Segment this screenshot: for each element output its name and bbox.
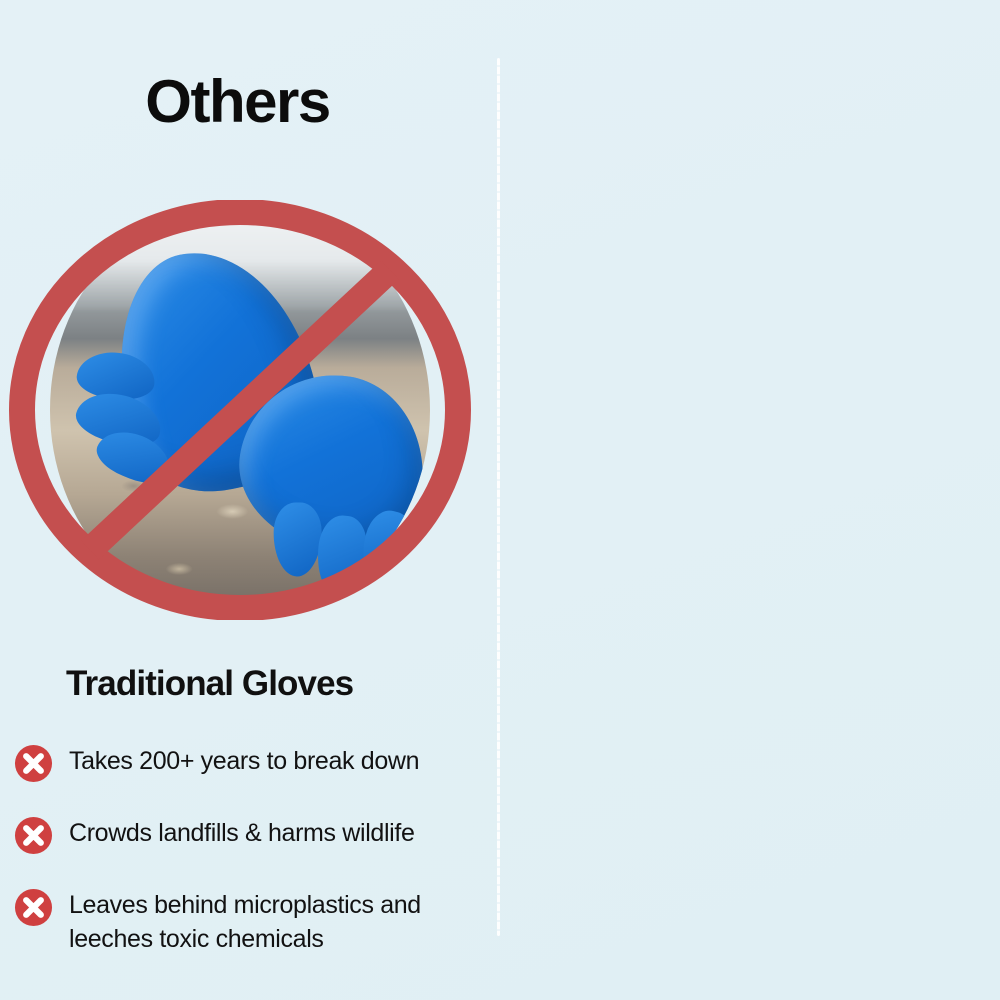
circle-x-icon [14, 744, 53, 783]
landfill-gloves-photo [50, 200, 430, 620]
circle-x-icon [14, 888, 53, 927]
right-column: Eco Gloves ™ [500, 0, 1000, 1000]
others-heading: Others [0, 72, 475, 132]
traditional-gloves-list: Takes 200+ years to break down Crowds la… [14, 742, 484, 957]
circle-x-icon [14, 816, 53, 855]
glove-finger [313, 513, 370, 598]
glove-finger [273, 502, 322, 577]
list-item-label: Leaves behind microplastics and leeches … [69, 886, 484, 957]
list-item-label: Crowds landfills & harms wildlife [69, 814, 415, 850]
list-item-label: Takes 200+ years to break down [69, 742, 419, 778]
list-item: Crowds landfills & harms wildlife [14, 814, 484, 855]
left-column: Others Traditional Gloves [0, 0, 497, 1000]
infographic-canvas: Others Traditional Gloves [0, 0, 1000, 1000]
glove-finger [355, 506, 418, 587]
traditional-gloves-image [8, 200, 472, 620]
list-item: Leaves behind microplastics and leeches … [14, 886, 484, 957]
list-item: Takes 200+ years to break down [14, 742, 484, 783]
traditional-gloves-title: Traditional Gloves [66, 666, 353, 701]
